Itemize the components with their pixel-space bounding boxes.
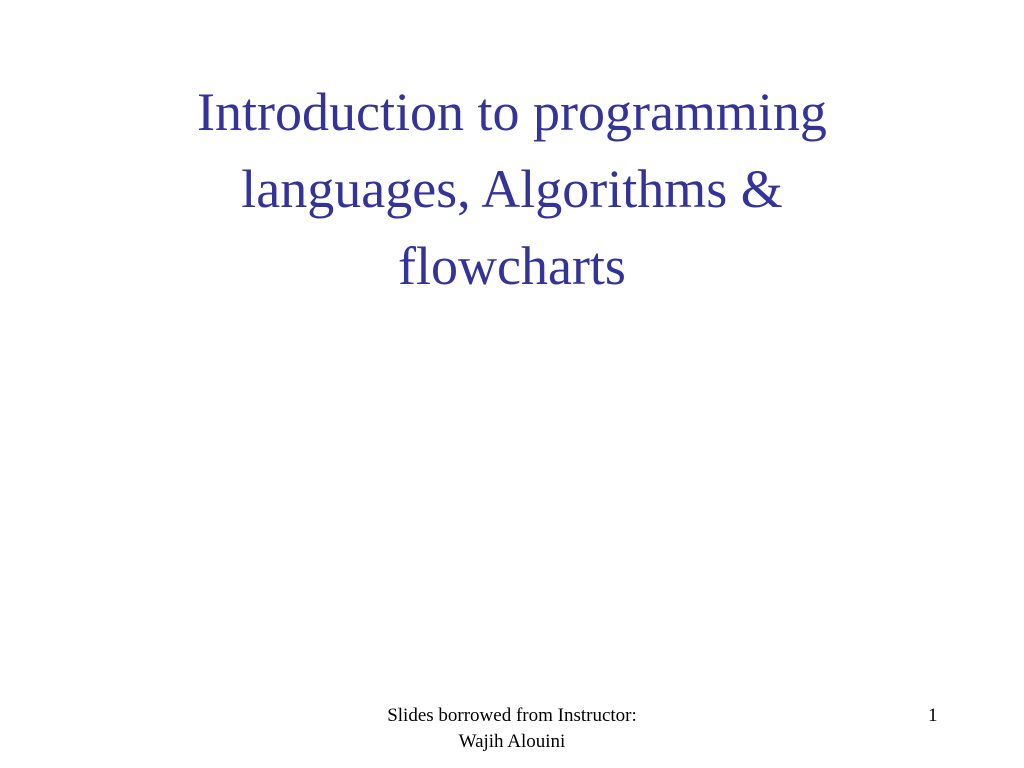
slide-number: 1 xyxy=(880,703,980,729)
slide-content-area xyxy=(64,310,960,680)
slide-number-value: 1 xyxy=(928,703,938,729)
footer-line-1: Slides borrowed from Instructor: xyxy=(256,703,768,729)
presentation-slide: Introduction to programming languages, A… xyxy=(0,0,1024,768)
title-line-2: languages, Algorithms & xyxy=(64,151,960,228)
slide-footer: Slides borrowed from Instructor: Wajih A… xyxy=(256,703,768,755)
footer-line-2: Wajih Alouini xyxy=(256,729,768,755)
slide-title: Introduction to programming languages, A… xyxy=(64,74,960,305)
title-line-3: flowcharts xyxy=(64,228,960,305)
title-line-1: Introduction to programming xyxy=(64,74,960,151)
